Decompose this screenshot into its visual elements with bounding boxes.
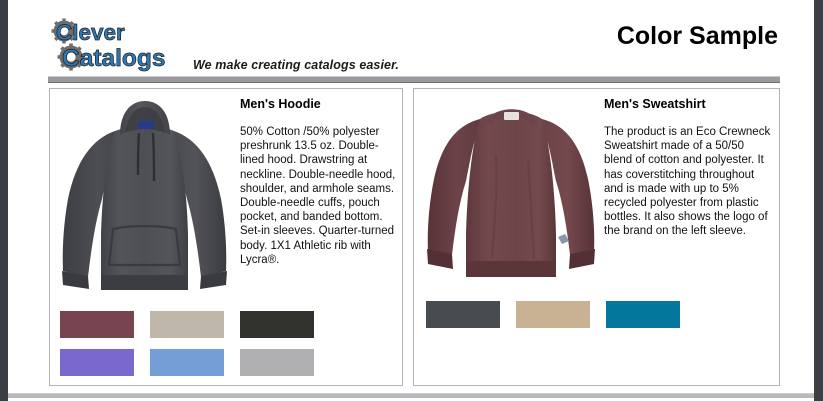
page-title: Color Sample — [617, 22, 778, 51]
color-swatch-teal[interactable] — [606, 301, 680, 328]
sweatshirt-body — [466, 112, 556, 264]
product-title: Men's Hoodie — [240, 97, 398, 111]
hoodie-drawstring-right — [153, 133, 154, 181]
page-header: Clever Catalogs We make creating catalog… — [8, 0, 814, 78]
sweatshirt-illustration — [424, 95, 599, 290]
product-panel-mens-sweatshirt: Men's Sweatshirt The product is an Eco C… — [413, 88, 780, 386]
logo-text-catalogs: Catalogs — [62, 45, 165, 72]
hoodie-drawstring-left — [138, 133, 139, 175]
product-description: 50% Cotton /50% polyester preshrunk 13.5… — [240, 125, 398, 267]
hoodie-body — [101, 127, 188, 278]
sleeve-brand-logo-icon — [558, 234, 569, 244]
color-swatch-charcoal[interactable] — [240, 311, 314, 338]
hoodie-text-column: Men's Hoodie 50% Cotton /50% polyester p… — [240, 97, 398, 267]
product-title: Men's Sweatshirt — [604, 97, 772, 111]
logo-text-clever: Clever — [56, 20, 125, 45]
window-right-edge — [814, 0, 823, 401]
color-swatch-cornflower-blue[interactable] — [150, 349, 224, 376]
product-description: The product is an Eco Crewneck Sweatshir… — [604, 125, 772, 239]
sweatshirt-banded-bottom — [466, 261, 556, 277]
header-divider — [48, 76, 780, 83]
hoodie-illustration — [58, 95, 233, 295]
sweatshirt-product-image — [424, 95, 599, 290]
color-swatch-khaki[interactable] — [150, 311, 224, 338]
product-panel-mens-hoodie: Men's Hoodie 50% Cotton /50% polyester p… — [49, 88, 403, 386]
color-swatch-gray[interactable] — [240, 349, 314, 376]
document-page: Clever Catalogs We make creating catalog… — [8, 0, 814, 401]
color-swatch-purple[interactable] — [60, 349, 134, 376]
color-sample-page: Clever Catalogs We make creating catalog… — [0, 0, 823, 401]
product-panels: Men's Hoodie 50% Cotton /50% polyester p… — [8, 88, 814, 398]
hoodie-product-image — [58, 95, 233, 295]
color-swatch-dark-slate[interactable] — [426, 301, 500, 328]
color-swatch-tan[interactable] — [516, 301, 590, 328]
sweatshirt-text-column: Men's Sweatshirt The product is an Eco C… — [604, 97, 772, 239]
brand-label — [138, 121, 154, 129]
sweatshirt-color-swatches — [426, 301, 766, 339]
hoodie-color-swatches — [60, 311, 396, 387]
hoodie-banded-bottom — [101, 275, 188, 290]
window-left-edge — [0, 0, 8, 401]
footer-divider — [8, 393, 814, 398]
color-swatch-maroon[interactable] — [60, 311, 134, 338]
brand-label — [504, 112, 519, 120]
tagline: We make creating catalogs easier. — [193, 58, 399, 72]
